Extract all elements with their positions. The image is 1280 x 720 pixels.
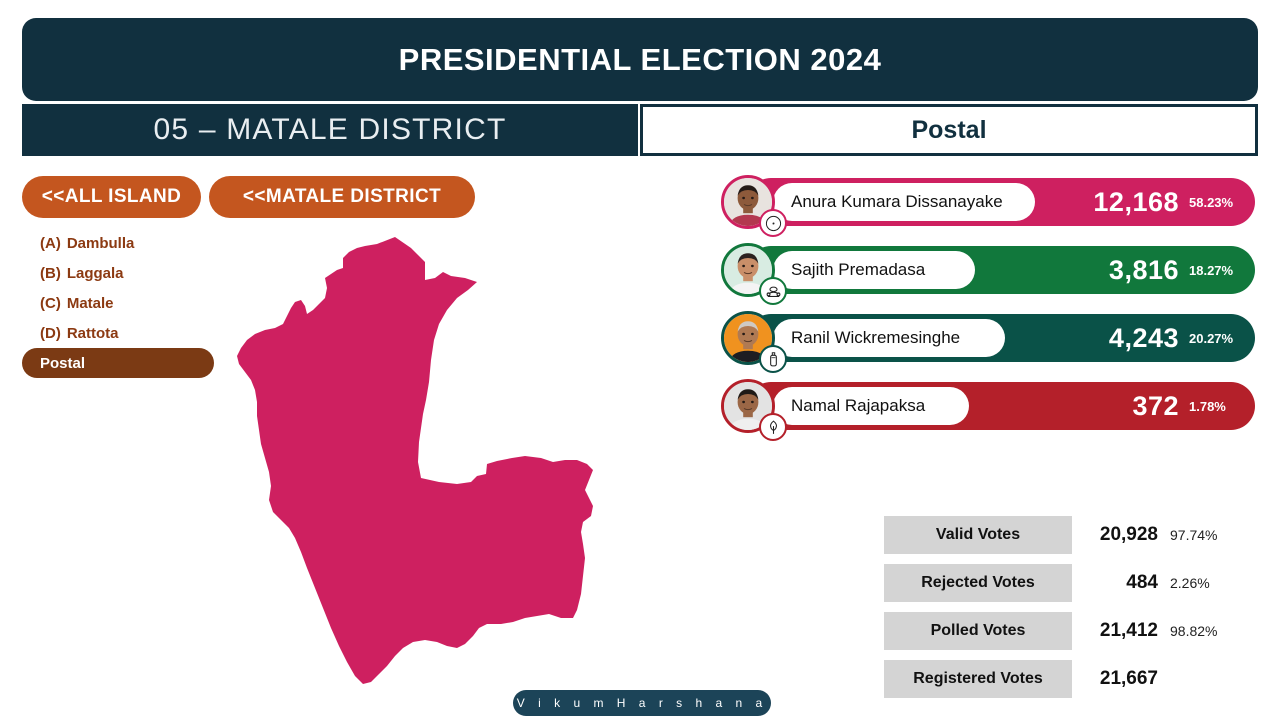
district-map-shape xyxy=(225,232,635,702)
summary-value: 21,412 xyxy=(1076,612,1158,650)
candidate-percent: 58.23% xyxy=(1189,195,1241,210)
nav-item-dambulla[interactable]: (A)Dambulla xyxy=(22,228,222,258)
nav-item-label: Matale xyxy=(67,295,114,312)
election-results-page: PRESIDENTIAL ELECTION 2024 05 – MATALE D… xyxy=(0,0,1280,720)
summary-value: 20,928 xyxy=(1076,516,1158,554)
summary-percent: 2.26% xyxy=(1170,564,1210,602)
summary-label: Polled Votes xyxy=(884,612,1072,650)
matale-district-map[interactable] xyxy=(225,232,635,702)
candidate-result-row[interactable]: 3,81618.27%Sajith Premadasa xyxy=(715,240,1255,308)
nav-item-label: Laggala xyxy=(67,265,124,282)
summary-row: Valid Votes20,92897.74% xyxy=(884,516,1256,564)
nav-item-label: Postal xyxy=(40,355,85,372)
candidate-votes: 4,243 xyxy=(1109,323,1179,354)
compass-icon xyxy=(759,209,787,237)
candidate-name: Ranil Wickremesinghe xyxy=(791,328,960,348)
vote-summary-table: Valid Votes20,92897.74%Rejected Votes484… xyxy=(884,516,1256,708)
summary-row: Rejected Votes4842.26% xyxy=(884,564,1256,612)
summary-label: Rejected Votes xyxy=(884,564,1072,602)
nav-item-letter: (A) xyxy=(40,235,61,252)
summary-value: 484 xyxy=(1076,564,1158,602)
page-title: PRESIDENTIAL ELECTION 2024 xyxy=(399,42,882,78)
summary-label: Valid Votes xyxy=(884,516,1072,554)
telephone-icon xyxy=(759,277,787,305)
page-title-bar: PRESIDENTIAL ELECTION 2024 xyxy=(22,18,1258,101)
district-title-box: 05 – MATALE DISTRICT xyxy=(22,104,638,156)
candidate-result-row[interactable]: 3721.78%Namal Rajapaksa xyxy=(715,376,1255,444)
summary-row: Registered Votes21,667 xyxy=(884,660,1256,708)
bud-icon xyxy=(759,413,787,441)
nav-item-laggala[interactable]: (B)Laggala xyxy=(22,258,222,288)
nav-item-rattota[interactable]: (D)Rattota xyxy=(22,318,222,348)
candidate-result-row[interactable]: 4,24320.27%Ranil Wickremesinghe xyxy=(715,308,1255,376)
division-title: Postal xyxy=(911,116,986,145)
candidate-name-pill: Namal Rajapaksa xyxy=(773,387,969,425)
nav-item-letter: (B) xyxy=(40,265,61,282)
candidate-name: Anura Kumara Dissanayake xyxy=(791,192,1003,212)
division-title-box: Postal xyxy=(640,104,1258,156)
candidate-results-list: 12,16858.23%Anura Kumara Dissanayake3,81… xyxy=(715,172,1255,444)
candidate-name-pill: Ranil Wickremesinghe xyxy=(773,319,1005,357)
candidate-votes: 372 xyxy=(1132,391,1179,422)
back-to-all-island-button[interactable]: <<ALL ISLAND xyxy=(22,176,201,218)
candidate-votes: 3,816 xyxy=(1109,255,1179,286)
nav-item-label: Dambulla xyxy=(67,235,135,252)
nav-item-matale[interactable]: (C)Matale xyxy=(22,288,222,318)
division-nav-list: (A)Dambulla(B)Laggala(C)Matale(D)Rattota… xyxy=(22,228,222,378)
summary-percent: 97.74% xyxy=(1170,516,1217,554)
watermark: V i k u m H a r s h a n a xyxy=(513,690,771,716)
subheader: 05 – MATALE DISTRICT Postal xyxy=(22,104,1258,156)
nav-item-postal[interactable]: Postal xyxy=(22,348,214,378)
candidate-percent: 1.78% xyxy=(1189,399,1241,414)
nav-item-label: Rattota xyxy=(67,325,119,342)
summary-value: 21,667 xyxy=(1076,660,1158,698)
gas-cylinder-icon xyxy=(759,345,787,373)
candidate-result-row[interactable]: 12,16858.23%Anura Kumara Dissanayake xyxy=(715,172,1255,240)
candidate-percent: 18.27% xyxy=(1189,263,1241,278)
summary-label: Registered Votes xyxy=(884,660,1072,698)
candidate-name-pill: Sajith Premadasa xyxy=(773,251,975,289)
candidate-name-pill: Anura Kumara Dissanayake xyxy=(773,183,1035,221)
summary-percent: 98.82% xyxy=(1170,612,1217,650)
nav-item-letter: (D) xyxy=(40,325,61,342)
candidate-percent: 20.27% xyxy=(1189,331,1241,346)
back-to-matale-district-button[interactable]: <<MATALE DISTRICT xyxy=(209,176,475,218)
district-title: 05 – MATALE DISTRICT xyxy=(154,113,507,147)
summary-row: Polled Votes21,41298.82% xyxy=(884,612,1256,660)
candidate-votes: 12,168 xyxy=(1093,187,1179,218)
candidate-name: Namal Rajapaksa xyxy=(791,396,925,416)
nav-item-letter: (C) xyxy=(40,295,61,312)
candidate-name: Sajith Premadasa xyxy=(791,260,925,280)
